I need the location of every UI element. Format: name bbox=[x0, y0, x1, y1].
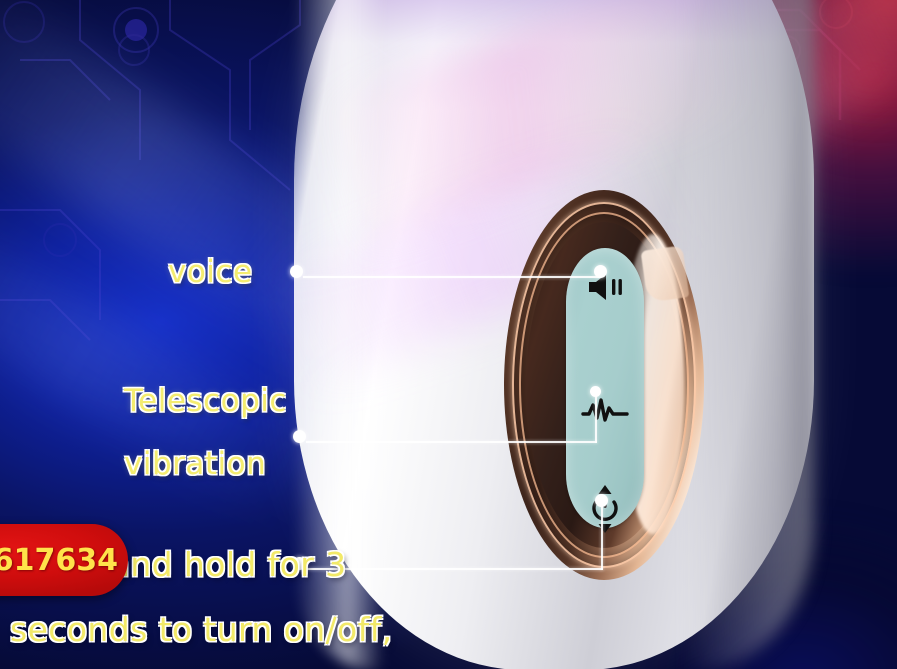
callout-label-telescopic: Telescopic bbox=[124, 383, 287, 419]
keypad-surface bbox=[566, 248, 644, 528]
watermark-badge-text: 979617634 bbox=[0, 543, 128, 578]
waveform-pulse-icon bbox=[581, 396, 629, 426]
callout-label-seconds-onoff: seconds to turn on/off, bbox=[10, 610, 393, 649]
leader-line-power-vertical bbox=[601, 500, 603, 570]
product-annotation-image: voice Telescopic vibration Press and hol… bbox=[0, 0, 897, 669]
leader-dot-power-button bbox=[595, 494, 608, 507]
leader-dot-voice-button bbox=[594, 265, 607, 278]
leader-dot-vibration-button bbox=[590, 386, 601, 397]
callout-label-vibration: vibration bbox=[124, 446, 266, 482]
callout-label-voice: voice bbox=[168, 254, 253, 290]
control-panel bbox=[504, 190, 704, 580]
leader-line-voice bbox=[303, 276, 600, 278]
power-with-up-down-arrows-icon bbox=[583, 484, 627, 534]
leader-line-power-horizontal bbox=[306, 568, 603, 570]
vibration-button[interactable] bbox=[566, 388, 644, 434]
power-button[interactable] bbox=[566, 486, 644, 532]
watermark-badge: 979617634 bbox=[0, 524, 128, 596]
leader-line-vibration-horizontal bbox=[306, 441, 597, 443]
leader-dot-voice-label bbox=[290, 265, 303, 278]
leader-line-vibration-vertical bbox=[595, 392, 597, 443]
leader-dot-vibration-label bbox=[293, 430, 306, 443]
